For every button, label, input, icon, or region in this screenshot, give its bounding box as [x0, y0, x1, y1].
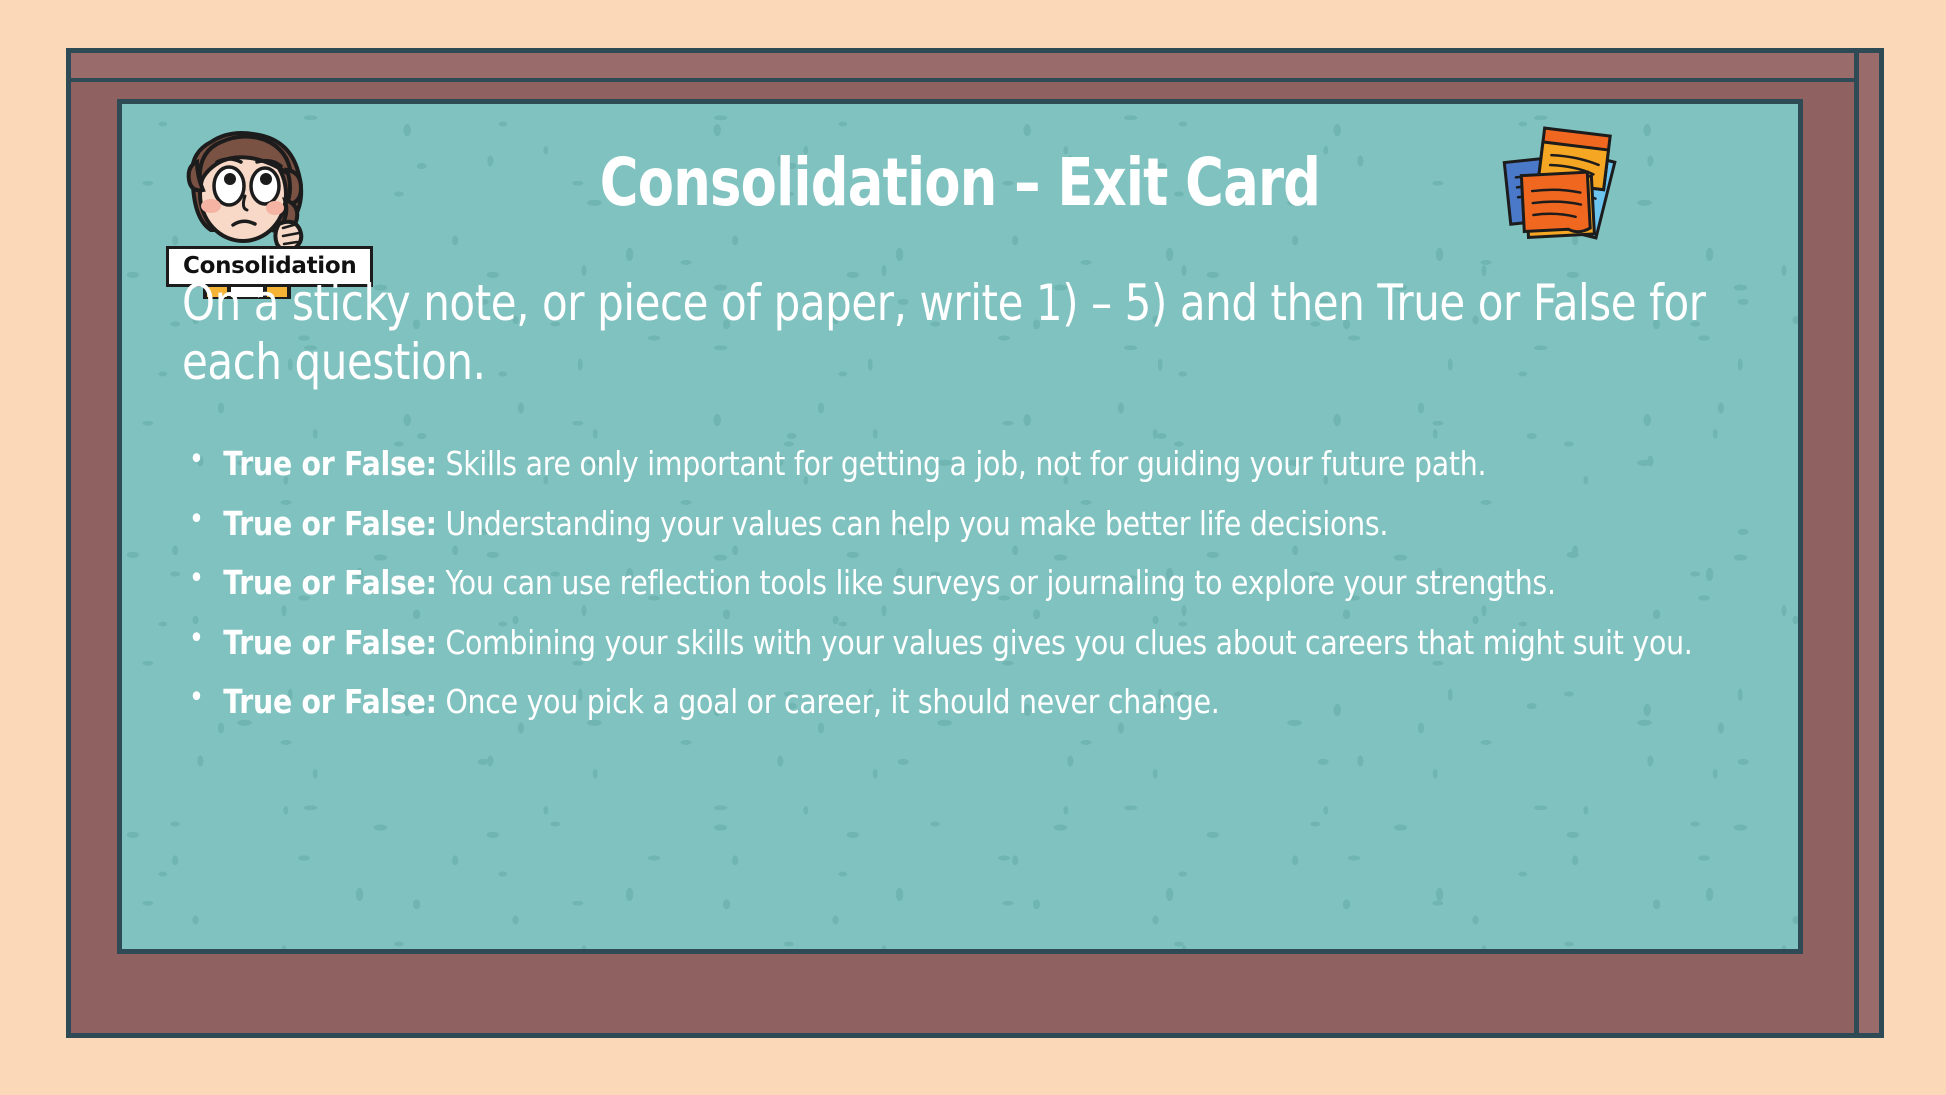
list-item: True or False: Skills are only important… — [182, 444, 1795, 484]
bullet-lead: True or False: — [223, 623, 436, 662]
page-title: Consolidation – Exit Card — [290, 150, 1631, 216]
list-item: True or False: You can use reflection to… — [182, 563, 1795, 603]
bullet-text: Skills are only important for getting a … — [437, 444, 1486, 483]
bullet-text: Understanding your values can help you m… — [437, 504, 1388, 543]
frame-bevel-right — [1854, 48, 1884, 1038]
true-false-list: True or False: Skills are only important… — [182, 444, 1758, 722]
chalkboard-frame: Consolidation Consolidation – Exit Card — [66, 48, 1884, 1038]
list-item: True or False: Once you pick a goal or c… — [182, 682, 1795, 722]
chalkboard-surface: Consolidation Consolidation – Exit Card — [117, 99, 1803, 954]
bullet-lead: True or False: — [223, 504, 436, 543]
bullet-lead: True or False: — [223, 682, 436, 721]
list-item: True or False: Understanding your values… — [182, 504, 1795, 544]
bullet-text: Once you pick a goal or career, it shoul… — [437, 682, 1220, 721]
bullet-text: Combining your skills with your values g… — [437, 623, 1693, 662]
bullet-lead: True or False: — [223, 444, 436, 483]
list-item: True or False: Combining your skills wit… — [182, 623, 1795, 663]
frame-bevel-top — [66, 48, 1884, 82]
bullet-lead: True or False: — [223, 563, 436, 602]
stacked-papers-icon — [1491, 126, 1626, 246]
instruction-text: On a sticky note, or piece of paper, wri… — [182, 274, 1757, 392]
slide-canvas: Consolidation Consolidation – Exit Card — [0, 0, 1946, 1095]
bullet-text: You can use reflection tools like survey… — [437, 563, 1556, 602]
board-body: On a sticky note, or piece of paper, wri… — [182, 274, 1758, 742]
